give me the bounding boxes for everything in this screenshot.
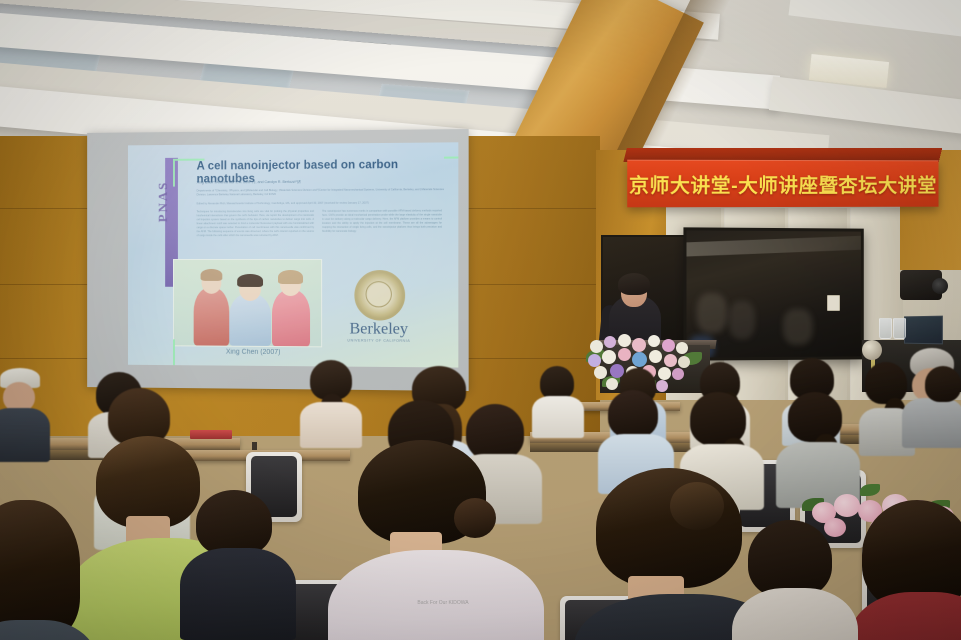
ceiling-band-right [788, 0, 961, 44]
slide-body-right: The nanoinjector has numerous merits in … [322, 209, 442, 258]
slide-group-photo [173, 259, 322, 347]
shirt-graphic-text: Back For Our KIDOWA [406, 600, 480, 607]
water-glass [893, 318, 906, 339]
presentation-slide: PNAS A cell nanoinjector based on carbon… [128, 142, 458, 367]
display-reflection [683, 235, 863, 257]
projection-screen: PNAS A cell nanoinjector based on carbon… [87, 129, 468, 391]
control-laptop[interactable] [904, 316, 943, 345]
lecture-hall-photo: PNAS A cell nanoinjector based on carbon… [0, 0, 961, 640]
water-glass [879, 318, 892, 339]
speaker-hair [618, 273, 650, 295]
tripod-knob [862, 340, 882, 360]
ceiling [0, 0, 961, 150]
screen-corner-marker-icon [444, 156, 458, 185]
berkeley-wordmark: Berkeley [332, 320, 425, 339]
slide-affiliation: Departments of *Chemistry, †Physics, and… [197, 188, 446, 197]
screen-corner-marker-icon [173, 159, 205, 187]
screen-corner-marker-icon [444, 341, 458, 367]
slide-editor-note: Edited by Alexander Rich, Massachusetts … [197, 201, 446, 205]
banner-title: 京师大讲堂-大师讲座暨杏坛大讲堂 [629, 169, 937, 198]
camera-lens-icon [932, 278, 948, 294]
journal-name: PNAS [155, 181, 171, 223]
screen-corner-marker-icon [173, 339, 205, 367]
slide-body-left: Techniques for introducing biomolecules … [197, 210, 314, 258]
berkeley-subtitle: UNIVERSITY OF CALIFORNIA [332, 338, 425, 343]
wall-outlet [827, 295, 840, 311]
red-folder [190, 430, 232, 439]
event-banner: 京师大讲堂-大师讲座暨杏坛大讲堂 [627, 160, 938, 208]
berkeley-seal-icon [354, 270, 405, 321]
